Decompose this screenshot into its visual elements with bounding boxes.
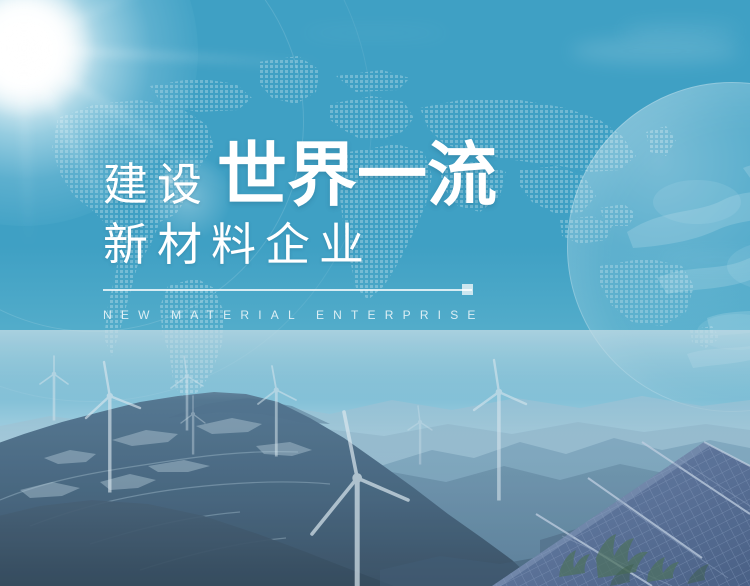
promotional-banner: 建设 世界一流 新材料企业 NEW MATERIAL ENTERPRISE [0, 0, 750, 586]
headline-bold-text: 世界一流 [217, 140, 497, 210]
cloud-wisp [620, 22, 740, 40]
cloud-wisp [570, 38, 740, 64]
headline-line-2: 新材料企业 [103, 222, 623, 267]
headline-divider [103, 289, 472, 291]
headline-subtitle: NEW MATERIAL ENTERPRISE [103, 308, 623, 322]
landscape-scene [0, 330, 750, 586]
headline-block: 建设 世界一流 新材料企业 NEW MATERIAL ENTERPRISE [103, 136, 623, 322]
divider-cap [462, 284, 473, 295]
headline-line-1: 建设 世界一流 [103, 136, 623, 210]
headline-light-text: 建设 [103, 162, 211, 207]
